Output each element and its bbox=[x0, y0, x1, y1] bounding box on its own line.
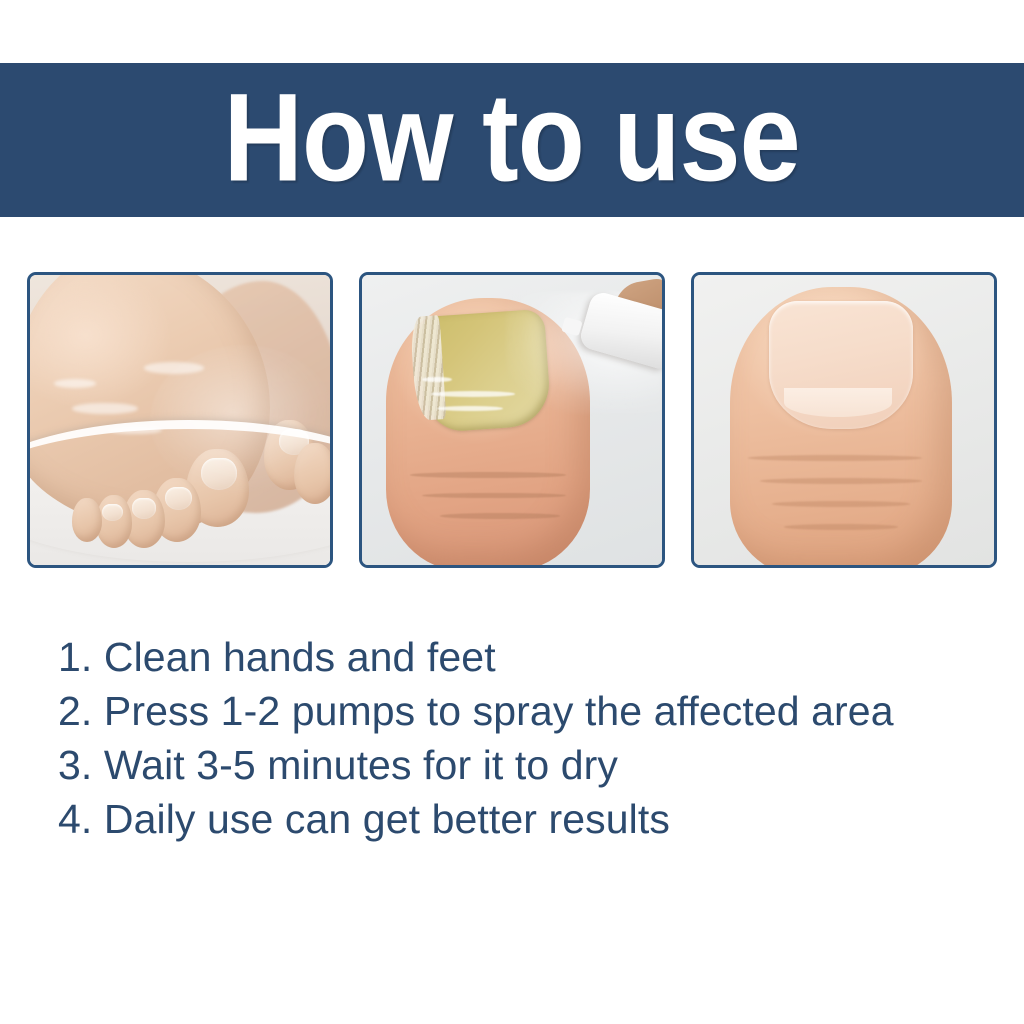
photo-card-wash-feet bbox=[27, 272, 333, 568]
instructions-list: 1. Clean hands and feet 2. Press 1-2 pum… bbox=[58, 630, 958, 846]
steps-ordered-list: 1. Clean hands and feet 2. Press 1-2 pum… bbox=[58, 630, 958, 846]
instruction-step: 4. Daily use can get better results bbox=[58, 792, 958, 846]
instruction-step: 1. Clean hands and feet bbox=[58, 630, 958, 684]
photo-healthy-nail-image bbox=[694, 275, 994, 565]
photo-card-healthy-nail bbox=[691, 272, 997, 568]
photo-spray-nail-image bbox=[362, 275, 662, 565]
instruction-photo-strip bbox=[27, 272, 997, 568]
instruction-step: 3. Wait 3-5 minutes for it to dry bbox=[58, 738, 958, 792]
header-banner: How to use bbox=[0, 63, 1024, 217]
instruction-step: 2. Press 1-2 pumps to spray the affected… bbox=[58, 684, 958, 738]
photo-card-spray-nail bbox=[359, 272, 665, 568]
photo-wash-feet-image bbox=[30, 275, 330, 565]
page-title: How to use bbox=[224, 75, 800, 200]
